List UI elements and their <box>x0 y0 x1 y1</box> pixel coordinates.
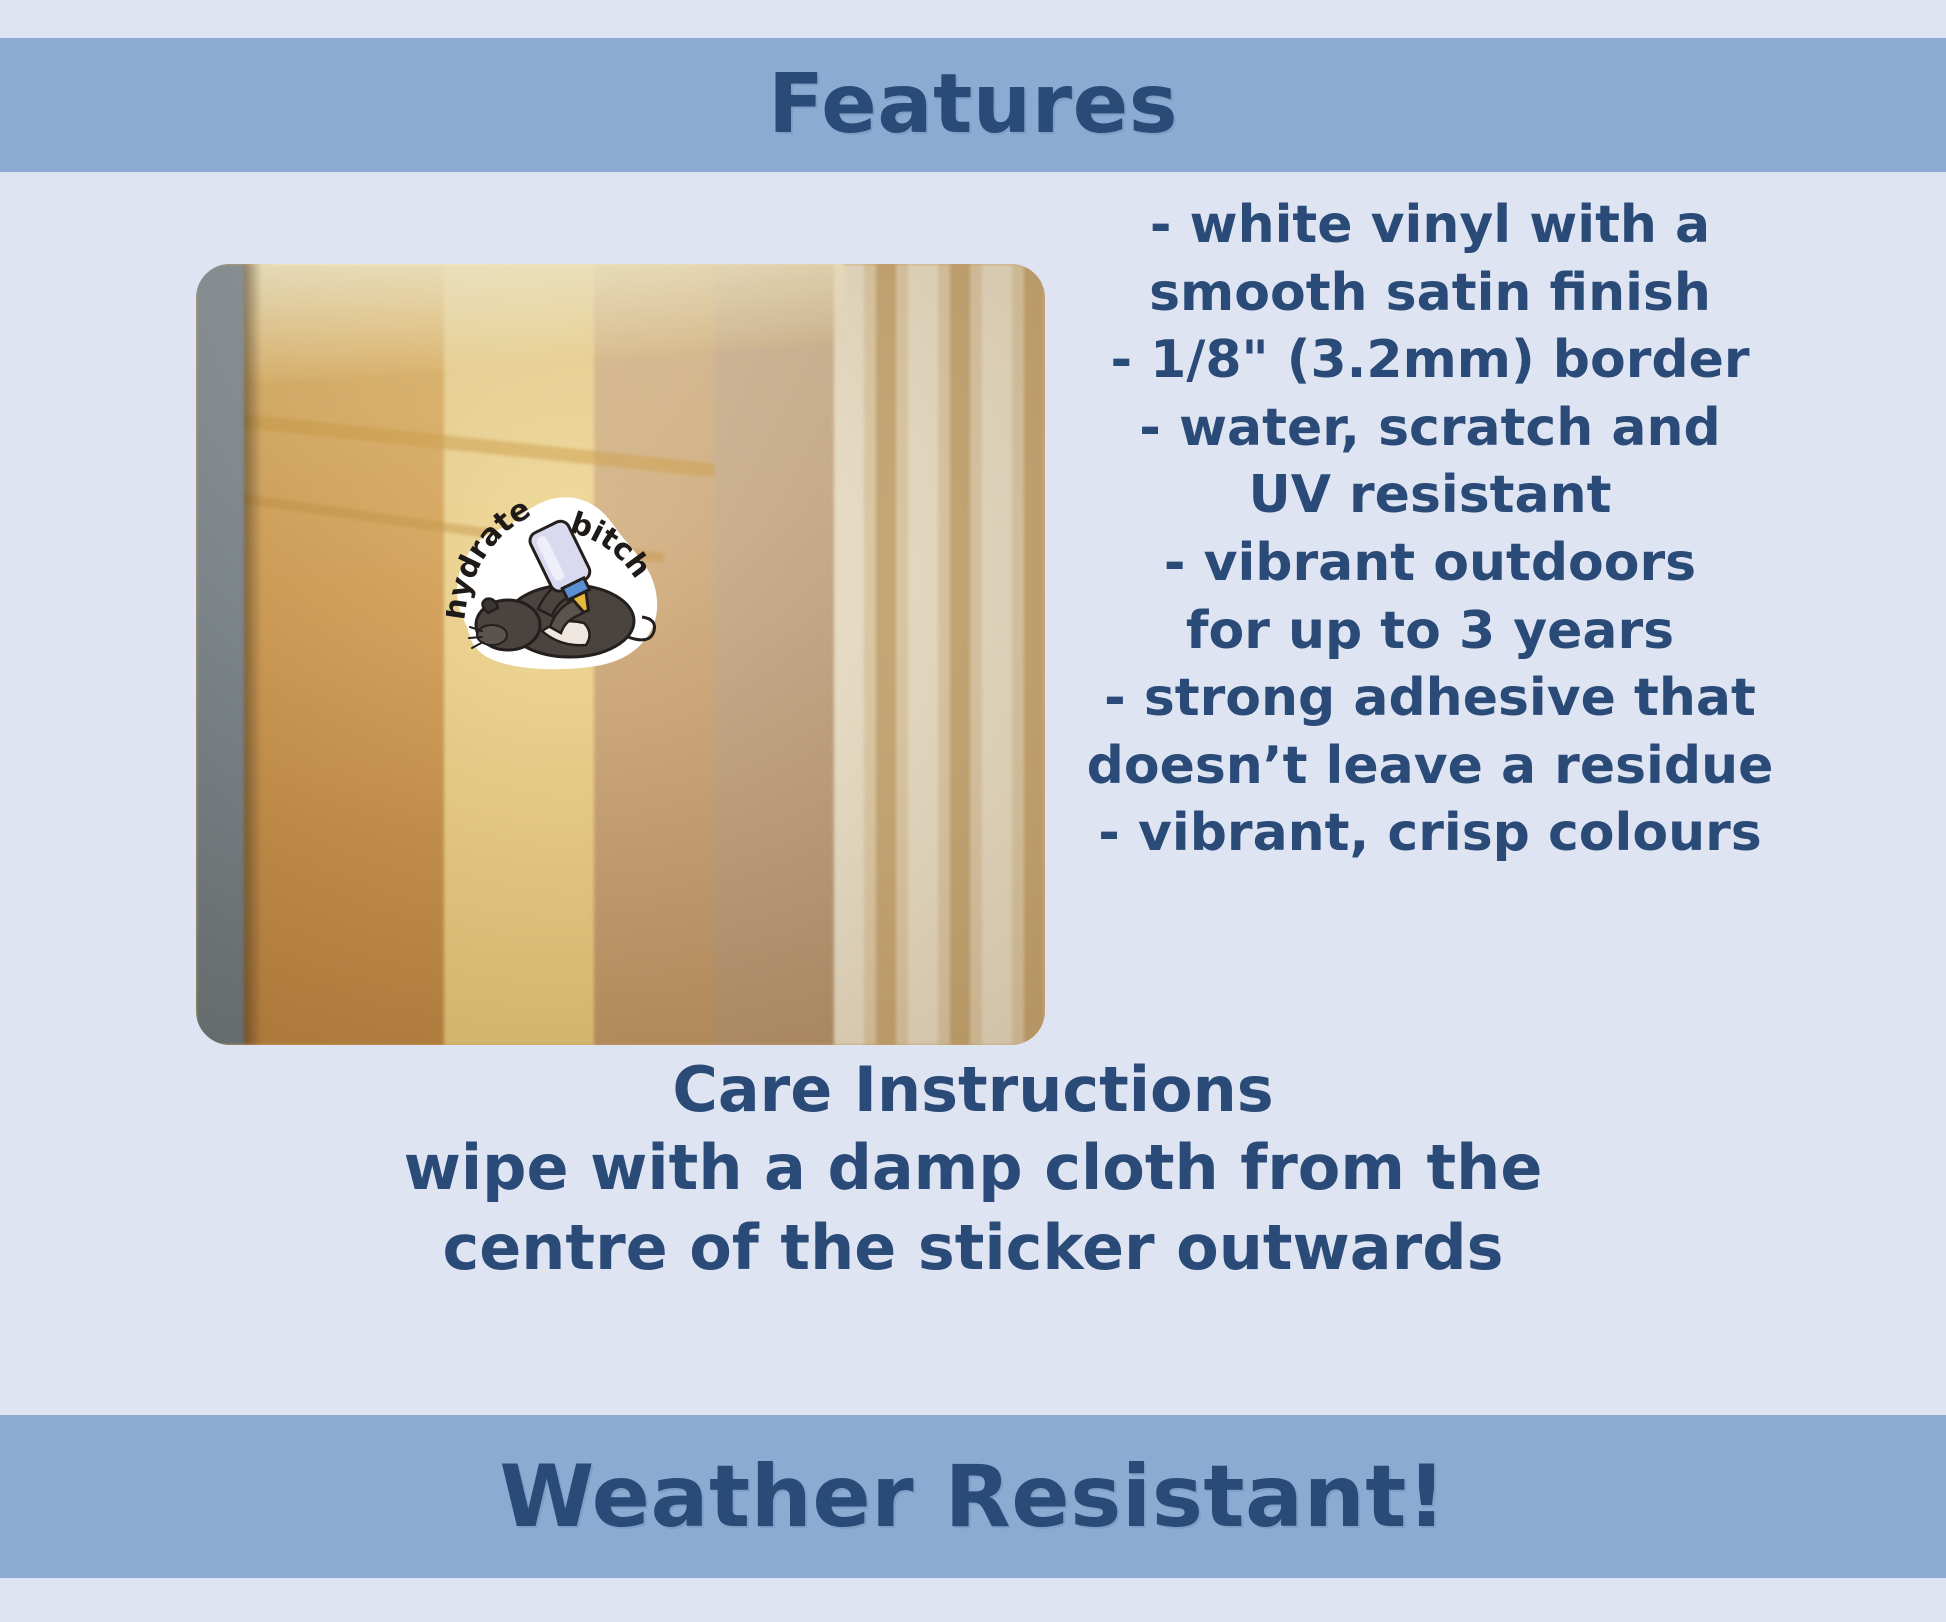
care-instructions-title: Care Instructions <box>0 1052 1946 1128</box>
main-content: hydrate bitch - white vinyl with a smoot… <box>0 172 1946 1415</box>
top-background-strip <box>0 0 1946 38</box>
feature-line: UV resistant <box>1060 462 1800 530</box>
care-instructions-line: centre of the sticker outwards <box>0 1208 1946 1289</box>
feature-line: smooth satin finish <box>1060 260 1800 328</box>
features-list: - white vinyl with a smooth satin finish… <box>1060 192 1800 868</box>
feature-line: - white vinyl with a <box>1060 192 1800 260</box>
features-header-banner: Features <box>0 38 1946 172</box>
weather-resistant-banner: Weather Resistant! <box>0 1415 1946 1578</box>
feature-line: doesn’t leave a residue <box>1060 733 1800 801</box>
footer-title: Weather Resistant! <box>499 1454 1446 1540</box>
feature-line: - vibrant, crisp colours <box>1060 800 1800 868</box>
feature-line: - strong adhesive that <box>1060 665 1800 733</box>
hydrate-bitch-sticker: hydrate bitch <box>446 479 676 679</box>
page-title: Features <box>768 64 1178 146</box>
care-instructions: Care Instructions wipe with a damp cloth… <box>0 1052 1946 1289</box>
feature-line: - vibrant outdoors <box>1060 530 1800 598</box>
care-instructions-line: wipe with a damp cloth from the <box>0 1128 1946 1209</box>
product-info-poster: Features <box>0 0 1946 1622</box>
product-photo: hydrate bitch <box>196 264 1045 1045</box>
feature-line: - water, scratch and <box>1060 395 1800 463</box>
bottom-background-strip <box>0 1578 1946 1622</box>
feature-line: for up to 3 years <box>1060 598 1800 666</box>
feature-line: - 1/8" (3.2mm) border <box>1060 327 1800 395</box>
